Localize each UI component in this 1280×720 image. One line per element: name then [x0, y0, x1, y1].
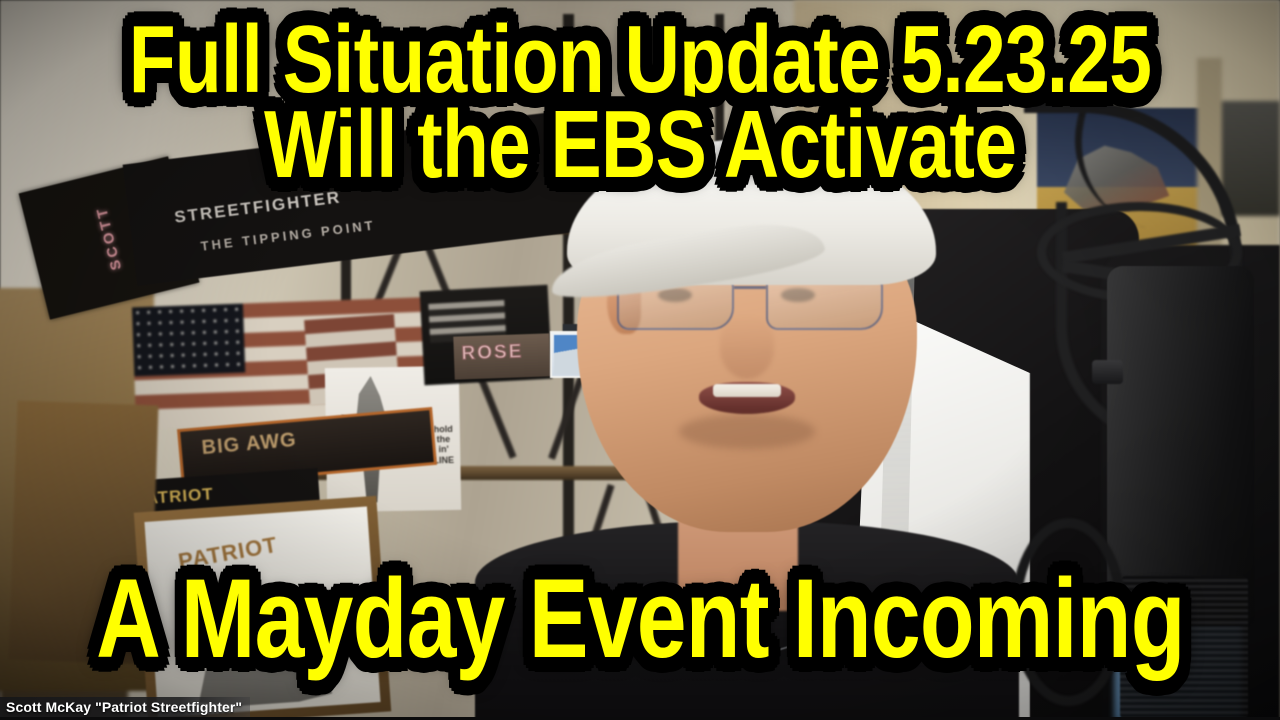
brand-line-1: PATRIOT: [269, 139, 392, 182]
scott-sign-label: SCOTT: [93, 204, 125, 272]
big-awg-label: BIG AWG: [201, 429, 298, 460]
microphone-knob: [1092, 360, 1123, 384]
video-frame-background: SCOTT PATRIOT STREETFIGHTER THE TIPPING …: [0, 0, 1280, 720]
lower-third-caption: Scott McKay "Patriot Streetfighter": [0, 697, 250, 718]
eyeglass-bridge: [734, 286, 766, 289]
headphones: [1011, 518, 1126, 705]
patriot-poster-label: PATRIOT: [176, 531, 279, 574]
thumbnail-canvas: SCOTT PATRIOT STREETFIGHTER THE TIPPING …: [0, 0, 1280, 720]
microphone-grille: [1120, 576, 1248, 720]
flag-union: [132, 304, 245, 376]
subject-person: [512, 173, 973, 720]
brand-line-3: THE TIPPING POINT: [200, 217, 376, 253]
patriot-motorcycle-poster: PATRIOT: [134, 496, 392, 720]
microphone-body: [1107, 266, 1254, 626]
brand-line-2: STREETFIGHTER: [173, 187, 342, 227]
subject-nose: [720, 316, 775, 379]
subject-chin-shadow: [679, 414, 815, 449]
subject-teeth: [713, 384, 781, 397]
motorcycle-silhouette: [186, 599, 345, 711]
necklace-chain: [650, 566, 825, 656]
